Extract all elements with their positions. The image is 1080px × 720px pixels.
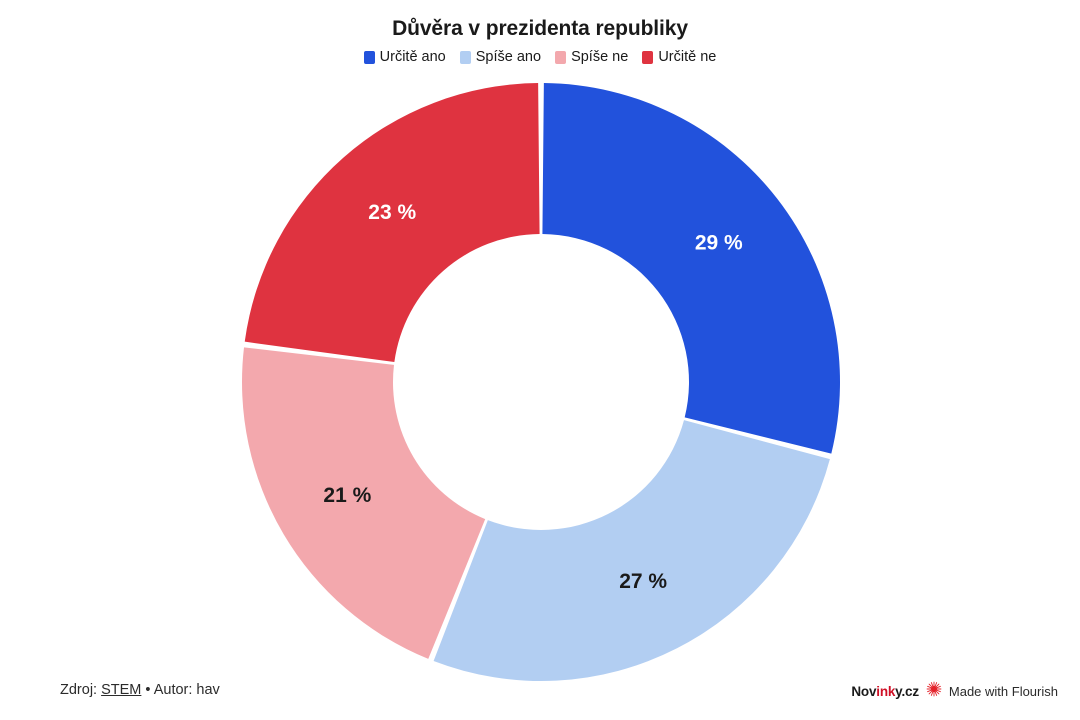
source-link[interactable]: STEM xyxy=(101,682,141,698)
legend-swatch-icon xyxy=(460,51,471,64)
donut-slice-0[interactable] xyxy=(542,83,840,454)
donut-chart: 29 %27 %21 %23 % xyxy=(0,0,1080,720)
legend-item-0[interactable]: Určitě ano xyxy=(364,48,446,66)
legend-item-1[interactable]: Spíše ano xyxy=(460,48,541,66)
legend-item-2[interactable]: Spíše ne xyxy=(555,48,628,66)
brand-part-1: Nov xyxy=(851,684,876,699)
donut-slice-2[interactable] xyxy=(242,347,485,659)
donut-slice-3[interactable] xyxy=(245,83,540,362)
flourish-starburst-icon xyxy=(926,681,942,702)
flourish-credit-label[interactable]: Made with Flourish xyxy=(949,684,1058,699)
chart-legend: Určitě anoSpíše anoSpíše neUrčitě ne xyxy=(0,48,1080,66)
legend-swatch-icon xyxy=(642,51,653,64)
donut-slice-1[interactable] xyxy=(434,420,830,681)
source-note: Zdroj: STEM • Autor: hav xyxy=(60,682,220,698)
novinky-logo[interactable]: Novinky.cz xyxy=(851,684,919,699)
legend-item-3[interactable]: Určitě ne xyxy=(642,48,716,66)
footer-right: Novinky.cz Made with Flourish xyxy=(851,681,1058,702)
legend-swatch-icon xyxy=(555,51,566,64)
donut-chart-svg: 29 %27 %21 %23 % xyxy=(0,0,1080,720)
chart-footer: Zdroj: STEM • Autor: hav Novinky.cz Made… xyxy=(0,676,1080,720)
legend-item-label: Spíše ne xyxy=(571,48,628,66)
legend-item-label: Určitě ano xyxy=(380,48,446,66)
source-prefix: Zdroj: xyxy=(60,682,101,698)
chart-header: Důvěra v prezidenta republiky Určitě ano… xyxy=(0,0,1080,66)
brand-part-2: y.cz xyxy=(895,684,919,699)
legend-item-label: Určitě ne xyxy=(658,48,716,66)
legend-item-label: Spíše ano xyxy=(476,48,541,66)
source-suffix: • Autor: hav xyxy=(141,682,219,698)
legend-swatch-icon xyxy=(364,51,375,64)
page-title: Důvěra v prezidenta republiky xyxy=(0,16,1080,42)
brand-accent: ink xyxy=(876,684,895,699)
